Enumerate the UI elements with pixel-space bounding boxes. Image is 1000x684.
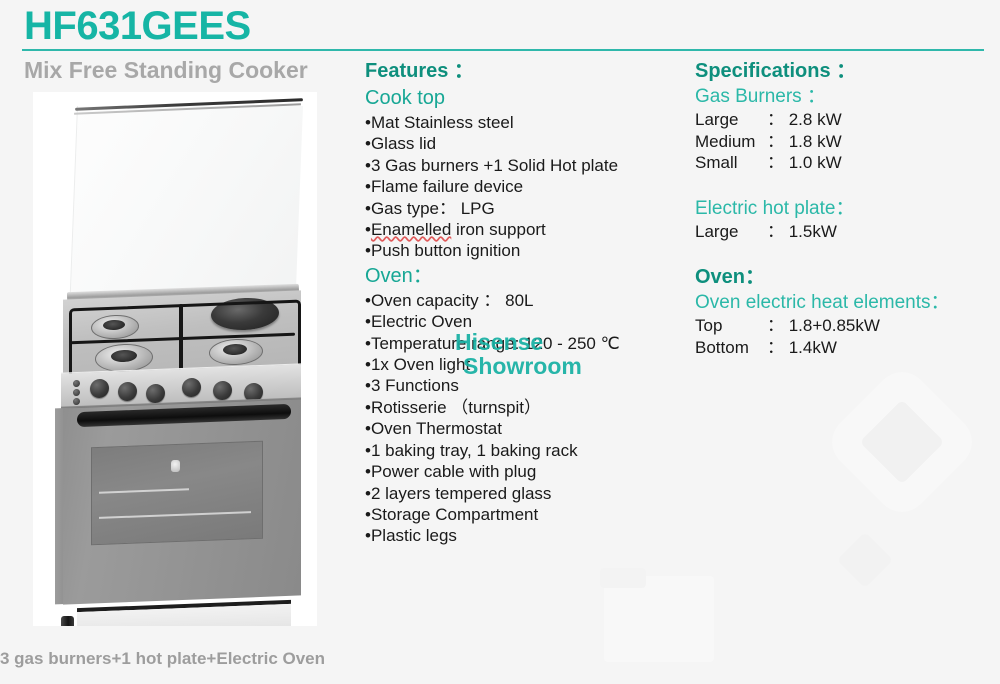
oven-light	[171, 460, 180, 472]
misspelled-word: Enamelled	[371, 220, 451, 239]
spec-row: Large： 2.8 kW	[695, 109, 995, 131]
oven-specs-heading: Oven：	[695, 264, 995, 290]
features-heading: Features ：	[365, 58, 685, 84]
spec-row: Medium： 1.8 kW	[695, 131, 995, 153]
feature-item: •Electric Oven	[365, 311, 685, 332]
background-soft-block	[604, 576, 714, 662]
product-image	[33, 92, 317, 626]
feature-item: •Plastic legs	[365, 525, 685, 546]
oven-features-heading: Oven：	[365, 262, 685, 290]
feature-item: •Storage Compartment	[365, 504, 685, 525]
feature-item-text: iron support	[451, 220, 546, 239]
spacer	[695, 242, 995, 264]
footer-caption: 3 gas burners+1 hot plate+Electric Oven	[0, 648, 325, 670]
specifications-column: Specifications ： Gas Burners ： Large： 2.…	[695, 58, 995, 358]
spec-value: ： 1.4kW	[767, 338, 837, 357]
glass-lid	[69, 106, 303, 314]
product-subtitle: Mix Free Standing Cooker	[24, 55, 308, 85]
spec-row: Small： 1.0 kW	[695, 152, 995, 174]
feature-item: •3 Gas burners +1 Solid Hot plate	[365, 155, 685, 176]
cooktop-heading: Cook top	[365, 84, 685, 112]
feature-item: •3 Functions	[365, 375, 685, 396]
feature-item-enamelled: •Enamelled iron support	[365, 219, 685, 240]
feature-item: •Temperature range: 120 - 250 ℃	[365, 333, 685, 354]
spacer	[695, 174, 995, 196]
feature-item: •Oven capacity ： 80L	[365, 290, 685, 311]
spec-value: ： 1.8 kW	[767, 132, 842, 151]
spec-value: ： 1.5kW	[767, 222, 837, 241]
feature-item: •Rotisserie （turnspit）	[365, 397, 685, 418]
feature-item: •Push button ignition	[365, 240, 685, 261]
feature-item: •Gas type： LPG	[365, 198, 685, 219]
spec-row: Bottom： 1.4kW	[695, 337, 995, 359]
background-diamond-tiny	[837, 532, 894, 589]
plastic-leg-rear	[61, 616, 74, 626]
product-code-title: HF631GEES	[24, 4, 251, 48]
cooker-illustration	[33, 92, 317, 626]
header-divider	[22, 49, 984, 51]
features-column: Features ： Cook top •Mat Stainless steel…	[365, 58, 685, 547]
spec-label: Large	[695, 221, 767, 243]
feature-item: •1 baking tray, 1 baking rack	[365, 440, 685, 461]
feature-item: •Oven Thermostat	[365, 418, 685, 439]
feature-item: •Mat Stainless steel	[365, 112, 685, 133]
oven-heat-elements-heading: Oven electric heat elements：	[695, 290, 995, 315]
spec-value: ： 1.0 kW	[767, 153, 842, 172]
specifications-heading: Specifications ：	[695, 58, 995, 84]
spec-label: Large	[695, 109, 767, 131]
background-diamond-small	[860, 400, 945, 485]
feature-item: •Flame failure device	[365, 176, 685, 197]
spec-row: Top： 1.8+0.85kW	[695, 315, 995, 337]
spec-label: Top	[695, 315, 767, 337]
spec-label: Bottom	[695, 337, 767, 359]
spec-value: ： 2.8 kW	[767, 110, 842, 129]
spec-row: Large： 1.5kW	[695, 221, 995, 243]
feature-item: •2 layers tempered glass	[365, 483, 685, 504]
spec-label: Small	[695, 152, 767, 174]
feature-item: •Glass lid	[365, 133, 685, 154]
background-soft-block-small	[600, 568, 646, 588]
feature-item: •1x Oven light	[365, 354, 685, 375]
feature-item: •Power cable with plug	[365, 461, 685, 482]
spec-label: Medium	[695, 131, 767, 153]
electric-hot-plate-heading: Electric hot plate：	[695, 196, 995, 221]
spec-value: ： 1.8+0.85kW	[767, 316, 880, 335]
gas-burners-heading: Gas Burners ：	[695, 84, 995, 109]
background-diamond-large	[821, 361, 982, 522]
